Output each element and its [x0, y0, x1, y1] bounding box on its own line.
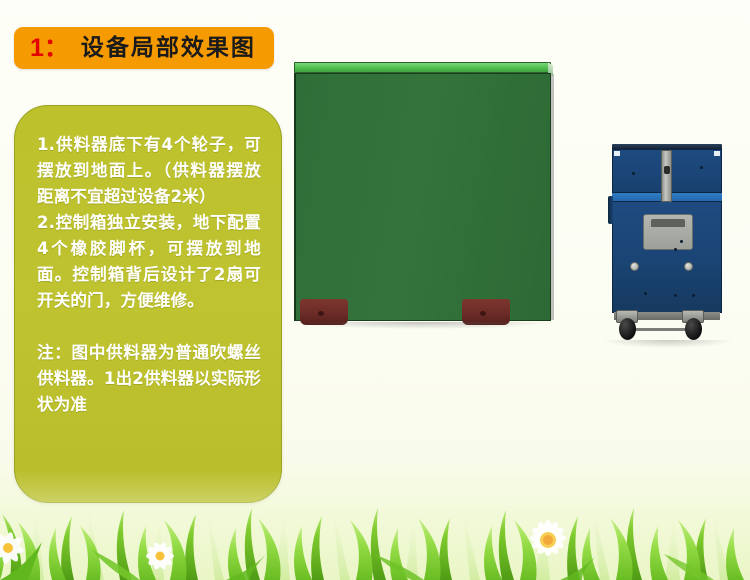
page-title: 设备局部效果图: [81, 37, 256, 60]
section-title-banner: 1： 设备局部效果图: [14, 27, 274, 69]
feeder-bolt: [674, 248, 677, 251]
info-panel-body: 1.供料器底下有4个轮子，可摆放到地面上。（供料器摆放距离不宜超过设备2米） 2…: [37, 132, 261, 418]
page-root: 1： 设备局部效果图 1.供料器底下有4个轮子，可摆放到地面上。（供料器摆放距离…: [0, 0, 750, 580]
feeder-panel-slot: [651, 219, 685, 227]
feeder-illustration: [608, 144, 728, 344]
feeder-rail-knob: [664, 166, 670, 174]
control-box-top-panel: [294, 62, 551, 73]
feeder-side-bracket: [608, 196, 613, 224]
flower-left: [0, 531, 25, 564]
section-number: 1：: [30, 36, 69, 61]
feeder-center-rail: [661, 150, 672, 202]
grass-footer: [0, 470, 750, 580]
feeder-bolt: [692, 294, 695, 297]
feeder-gauge: [630, 262, 639, 271]
feeder-bolt: [680, 240, 683, 243]
info-note: 注：图中供料器为普通吹螺丝供料器。1出2供料器以实际形状为准: [37, 340, 261, 418]
feeder-gauge: [684, 262, 693, 271]
feeder-top-cap-right: [714, 151, 720, 156]
control-box-floor-shadow: [292, 322, 554, 329]
info-paragraph-2: 2.控制箱独立安装，地下配置4个橡胶脚杯，可摆放到地面。控制箱背后设计了2扇可开…: [37, 210, 261, 314]
caster-tyre: [619, 318, 636, 340]
caster-tyre: [685, 318, 702, 340]
feeder-bolt: [700, 166, 703, 169]
info-panel: 1.供料器底下有4个轮子，可摆放到地面上。（供料器摆放距离不宜超过设备2米） 2…: [14, 105, 282, 503]
feeder-bolt: [674, 294, 677, 297]
control-box-body: [294, 73, 551, 321]
feeder-bolt: [644, 292, 647, 295]
grass-illustration: [0, 470, 750, 580]
info-paragraph-1: 1.供料器底下有4个轮子，可摆放到地面上。（供料器摆放距离不宜超过设备2米）: [37, 132, 261, 210]
control-box-illustration: [292, 62, 553, 324]
control-box-side-shadow: [551, 74, 554, 320]
feeder-top-cap-left: [614, 151, 620, 156]
flower-right: [530, 520, 567, 557]
feeder-floor-shadow: [602, 340, 734, 348]
feeder-caster-wheel: [682, 310, 704, 340]
feeder-bolt: [632, 172, 635, 175]
feeder-caster-wheel: [616, 310, 638, 340]
